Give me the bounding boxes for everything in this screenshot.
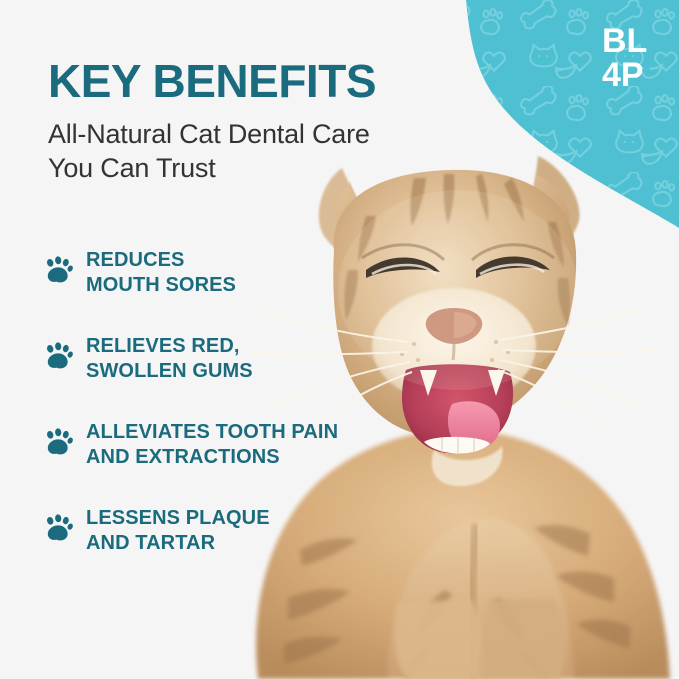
right-eye-closed — [476, 257, 550, 279]
brand-logo: BL 4P — [602, 20, 668, 92]
benefit-label: RELIEVES RED, SWOLLEN GUMS — [86, 334, 420, 384]
paw-icon — [44, 342, 74, 372]
benefit-item-3: ALLEVIATES TOOTH PAIN AND EXTRACTIONS — [0, 420, 420, 478]
benefit-item-1: REDUCES MOUTH SORES — [0, 248, 420, 306]
page-title: KEY BENEFITS — [48, 55, 376, 107]
chest-parting — [472, 524, 477, 679]
cat-tongue — [448, 401, 500, 450]
right-fang — [488, 370, 505, 396]
benefit-item-2: RELIEVES RED, SWOLLEN GUMS — [0, 334, 420, 392]
benefit-item-4: LESSENS PLAQUE AND TARTAR — [0, 506, 420, 564]
benefit-label: ALLEVIATES TOOTH PAIN AND EXTRACTIONS — [86, 420, 420, 470]
cat-front-paws — [395, 598, 565, 679]
paw-icon — [44, 428, 74, 458]
cat-chin — [432, 446, 503, 486]
logo-top-text: BL — [602, 22, 647, 60]
benefit-label: LESSENS PLAQUE AND TARTAR — [86, 506, 420, 556]
paw-icon — [44, 514, 74, 544]
left-fang — [420, 370, 437, 396]
logo-bottom-text: 4P — [602, 56, 644, 92]
copy-column: KEY BENEFITS All-Natural Cat Dental Care… — [0, 0, 420, 679]
benefits-list: REDUCES MOUTH SORES RELIEVES RED, SW — [0, 248, 420, 592]
cat-nose — [426, 308, 482, 344]
lower-teeth — [424, 437, 490, 454]
benefit-label: REDUCES MOUTH SORES — [86, 248, 420, 298]
logo-paw-icon — [642, 62, 651, 74]
page-subtitle: All-Natural Cat Dental Care You Can Trus… — [48, 117, 388, 185]
infographic-canvas: BL 4P — [0, 0, 679, 679]
paw-icon — [44, 256, 74, 286]
